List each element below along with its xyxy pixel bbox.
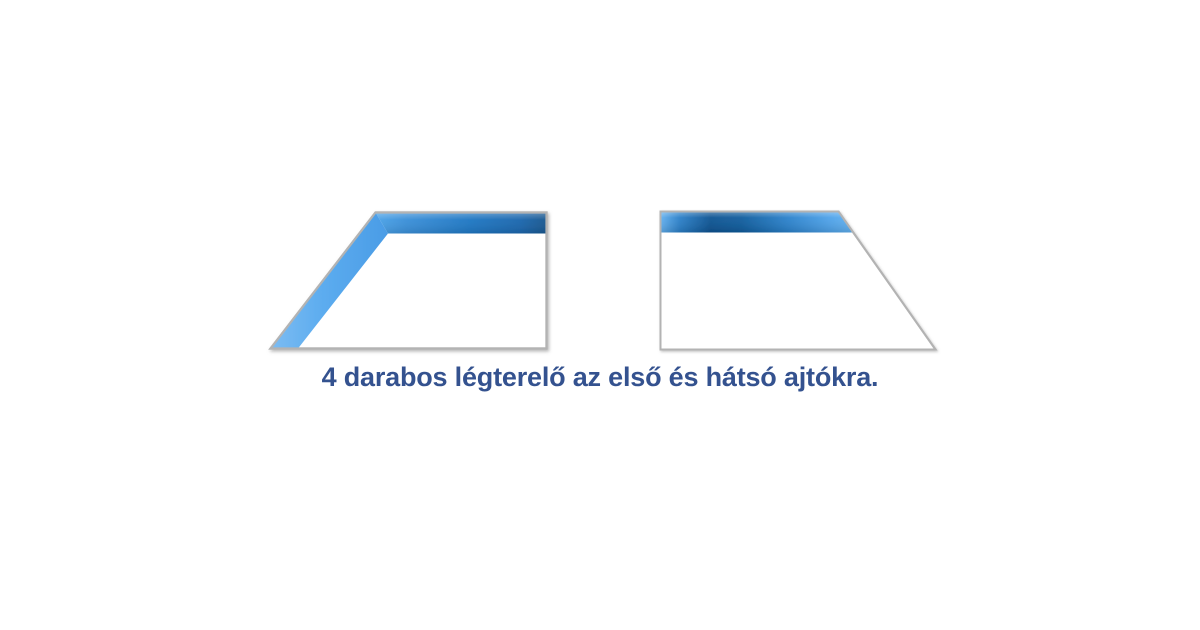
page-root: 4 darabos légterelő az első és hátsó ajt…	[0, 0, 1200, 630]
diagram-caption: 4 darabos légterelő az első és hátsó ajt…	[0, 362, 1200, 394]
rear-door-deflector-shape	[661, 212, 936, 350]
front-door-deflector-strip-shading	[376, 213, 547, 234]
rear-door-deflector-strip-shading	[661, 212, 854, 233]
wind-deflector-diagram-svg	[0, 0, 1200, 630]
diagram-area	[0, 0, 1200, 630]
front-door-deflector-shape	[271, 213, 547, 349]
